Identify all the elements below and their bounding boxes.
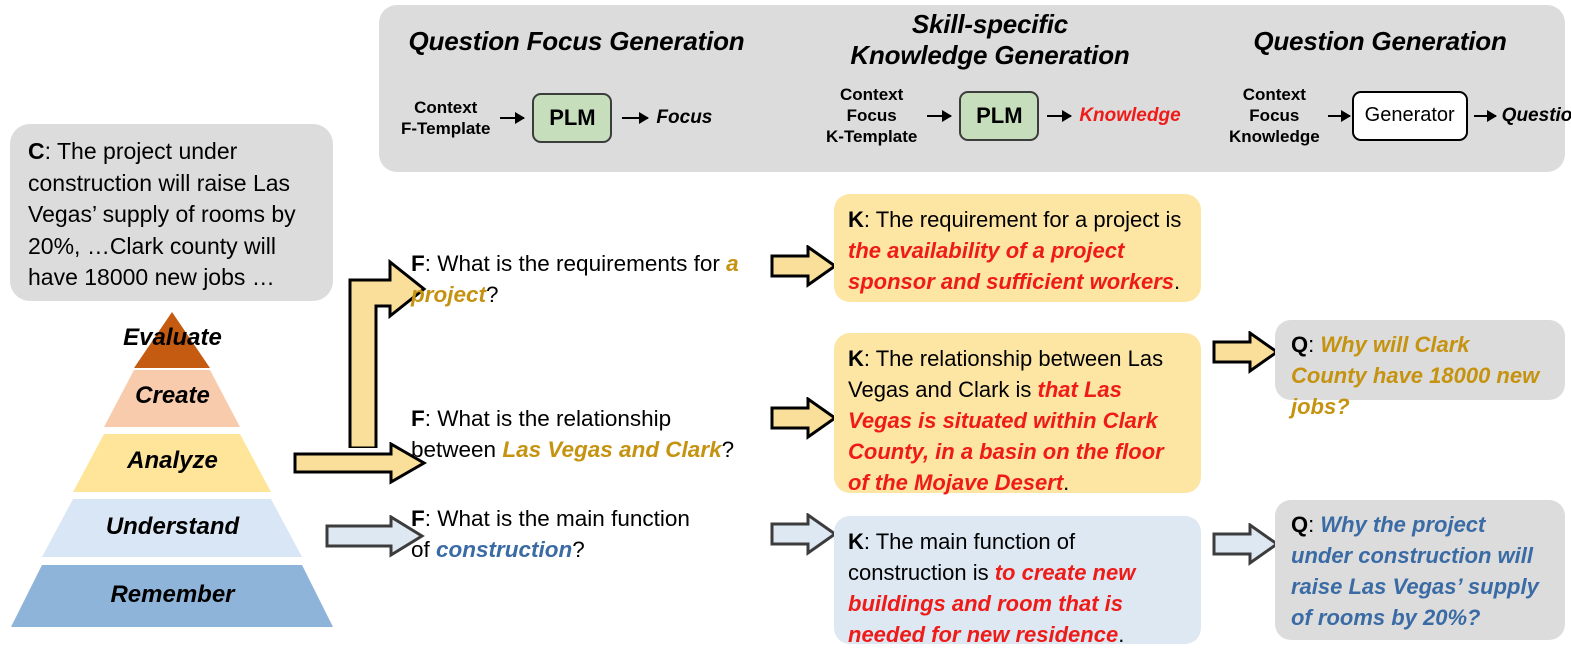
context-box: C: The project under construction will r… — [10, 124, 333, 301]
pyramid-tier-create: Create — [0, 370, 345, 434]
context-prefix: C — [28, 138, 45, 164]
focus-plain-1: : What is the requirements for — [425, 251, 726, 276]
stage-input-context: Context — [1229, 84, 1320, 105]
context-colon: : — [45, 138, 57, 164]
focus-text-1: F: What is the requirements for a projec… — [411, 248, 771, 310]
question-prefix: Q — [1291, 512, 1308, 537]
question-text: Why will Clark County have 18000 new job… — [1291, 332, 1539, 419]
pyramid-tier-label: Create — [0, 382, 345, 410]
knowledge-plain-1: : The requirement for a project is — [864, 207, 1182, 232]
arrow-to-model-icon — [500, 117, 524, 119]
question-colon: : — [1308, 332, 1320, 357]
focus-highlight: construction — [436, 537, 572, 562]
pyramid-tier-label: Understand — [0, 513, 345, 541]
knowledge-prefix: K — [848, 346, 864, 371]
focus-plain-2: ? — [486, 282, 499, 307]
focus-prefix: F — [411, 506, 425, 531]
stage-inputs: Context F-Template — [401, 97, 490, 139]
knowledge-highlight: the availability of a project sponsor an… — [848, 238, 1174, 294]
knowledge-prefix: K — [848, 207, 864, 232]
block-arrow-to-focus-2-icon — [293, 442, 428, 486]
block-arrow-focus-to-knowledge-1-icon — [770, 245, 838, 289]
plm-box: PLM — [532, 93, 612, 143]
arrow-to-output-icon — [622, 117, 648, 119]
stage-input-knowledge: Knowledge — [1229, 126, 1320, 147]
knowledge-box-3: K: The main function of construction is … — [834, 516, 1201, 644]
block-arrow-knowledge-to-question-1-icon — [1212, 331, 1280, 375]
stage-input-context: Context — [401, 97, 490, 118]
stage-title: Question Focus Generation — [379, 27, 774, 56]
question-box-2: Q: Why the project under construction wi… — [1275, 500, 1565, 640]
block-arrow-focus-to-knowledge-2-icon — [770, 397, 838, 441]
stage-title-line-2: Knowledge Generation — [790, 41, 1190, 70]
block-arrow-to-focus-3-icon — [325, 515, 425, 559]
question-text: Why the project under construction will … — [1291, 512, 1539, 630]
arrow-to-model-icon — [927, 115, 951, 117]
stage-input-f-template: F-Template — [401, 118, 490, 139]
plm-box: PLM — [959, 91, 1039, 141]
knowledge-plain-2: . — [1174, 269, 1180, 294]
stage-input-k-template: K-Template — [826, 126, 917, 147]
question-colon: : — [1308, 512, 1320, 537]
stage-output-focus: Focus — [656, 107, 712, 129]
context-text: The project under construction will rais… — [28, 138, 296, 290]
question-prefix: Q — [1291, 332, 1308, 357]
focus-text-2: F: What is the relationship between Las … — [411, 403, 761, 465]
generator-box: Generator — [1352, 91, 1468, 141]
arrow-to-model-icon — [1328, 115, 1350, 117]
stage-inputs: Context Focus K-Template — [826, 84, 917, 147]
pyramid-tier-label: Evaluate — [0, 324, 345, 352]
stage-input-context: Context — [826, 84, 917, 105]
stage-knowledge-generation: Skill-specific Knowledge Generation Cont… — [790, 5, 1190, 172]
stage-title-line-1: Skill-specific — [790, 10, 1190, 39]
pyramid-tier-evaluate: Evaluate — [0, 312, 345, 372]
stage-input-focus: Focus — [1229, 105, 1320, 126]
stage-inputs: Context Focus Knowledge — [1229, 84, 1320, 147]
stage-question-generation: Question Generation Context Focus Knowle… — [1195, 5, 1565, 172]
knowledge-plain-2: . — [1063, 470, 1069, 495]
focus-plain-2: ? — [572, 537, 585, 562]
knowledge-box-1: K: The requirement for a project is the … — [834, 194, 1201, 302]
pyramid-tier-remember: Remember — [0, 565, 345, 635]
focus-prefix: F — [411, 406, 425, 431]
stage-title: Question Generation — [1195, 27, 1565, 56]
focus-prefix: F — [411, 251, 425, 276]
stage-output-knowledge: Knowledge — [1079, 105, 1180, 127]
knowledge-box-2: K: The relationship between Las Vegas an… — [834, 333, 1201, 493]
block-arrow-knowledge-to-question-2-icon — [1212, 523, 1280, 567]
pyramid-tier-understand: Understand — [0, 499, 345, 565]
stage-question-focus-generation: Question Focus Generation Context F-Temp… — [379, 5, 774, 172]
question-box-1: Q: Why will Clark County have 18000 new … — [1275, 320, 1565, 400]
focus-plain-2: ? — [722, 437, 735, 462]
focus-text-3: F: What is the main function of construc… — [411, 503, 701, 565]
stage-output-question: Question — [1502, 105, 1571, 127]
knowledge-prefix: K — [848, 529, 864, 554]
pyramid-tier-label: Remember — [0, 581, 345, 609]
knowledge-plain-2: . — [1118, 622, 1124, 647]
focus-highlight: Las Vegas and Clark — [502, 437, 721, 462]
block-arrow-focus-to-knowledge-3-icon — [770, 513, 838, 557]
arrow-to-output-icon — [1474, 115, 1496, 117]
stage-input-focus: Focus — [826, 105, 917, 126]
arrow-to-output-icon — [1047, 115, 1071, 117]
